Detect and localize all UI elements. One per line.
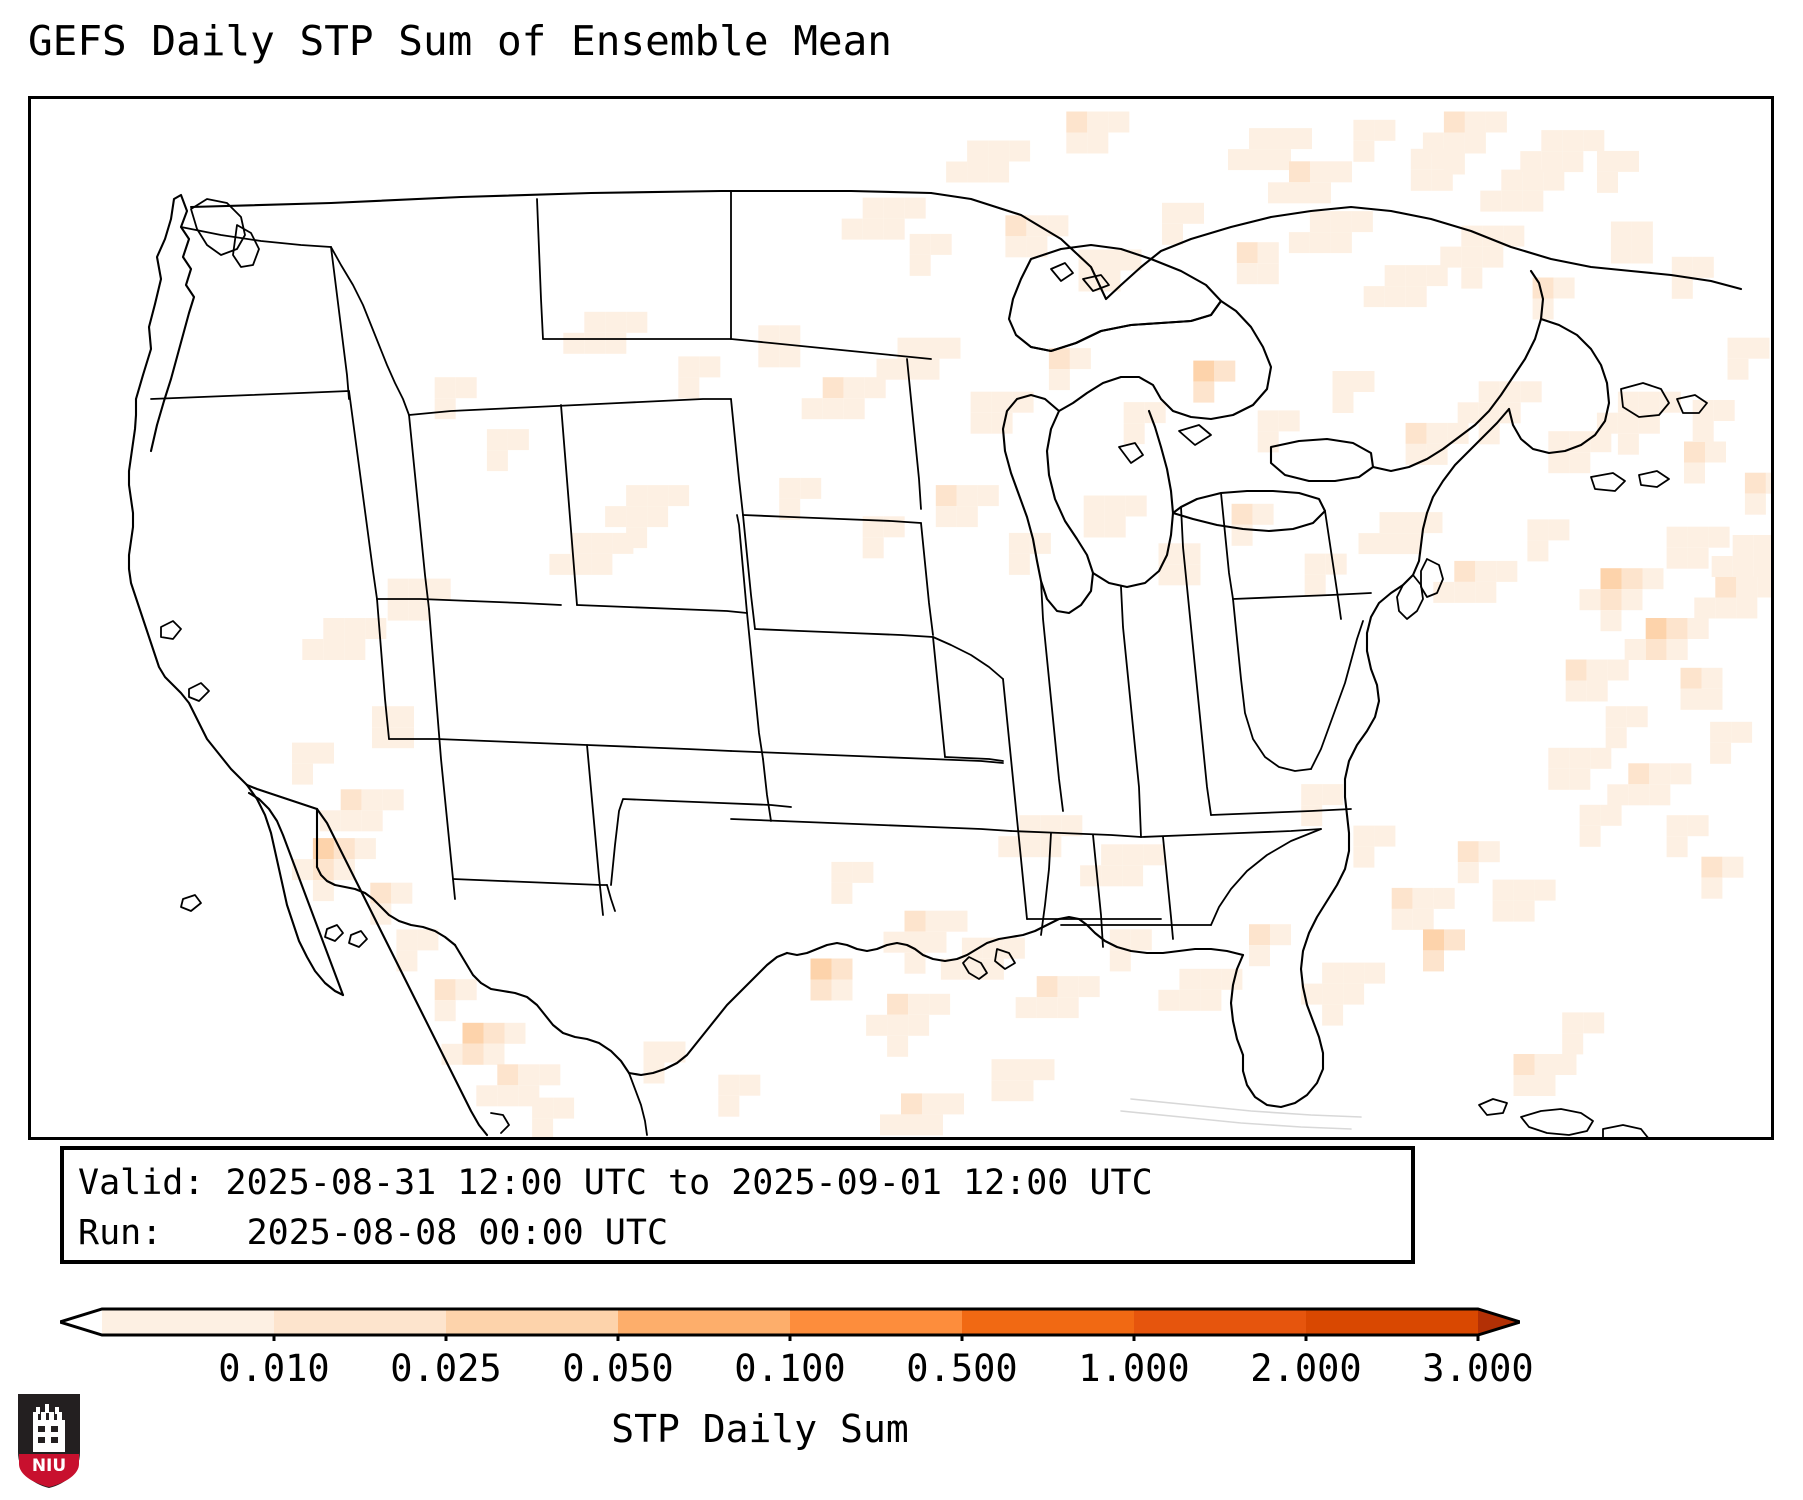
data-cell [1566,681,1587,702]
data-cell [739,1075,760,1096]
data-cell [1444,154,1465,175]
colorbar-segment [962,1309,1135,1335]
colorbar-tick-labels: 0.0100.0250.0500.1000.5001.0002.0003.000 [0,1347,1803,1397]
colorbar-segment [1134,1309,1307,1335]
data-cell [644,1042,665,1063]
data-cell [1180,564,1201,585]
data-cell [1037,997,1058,1018]
data-cell [1618,434,1639,455]
data-cell [1709,527,1730,548]
data-cell-layer [292,112,1771,1138]
data-cell [1200,990,1221,1011]
data-cell [1702,668,1723,689]
data-cell [1535,880,1556,901]
data-cell [1521,381,1542,402]
data-cell [1374,826,1395,847]
data-cell [1401,512,1422,533]
data-cell [393,727,414,748]
data-cell [901,1093,922,1114]
data-cell [1527,519,1548,540]
data-cell [866,1015,887,1036]
data-cell [505,1023,526,1044]
data-cell [1270,128,1291,149]
data-cell [1364,963,1385,984]
data-cell [302,639,323,660]
data-cell [811,980,832,1001]
data-cell [887,1036,908,1057]
data-cell [1131,929,1152,950]
data-cell [1406,444,1427,465]
data-cell [832,959,853,980]
data-cell [292,743,313,764]
data-cell [863,537,884,558]
data-cell [1124,423,1145,444]
data-cell [1611,243,1632,264]
data-cell [800,478,821,499]
data-cell [931,234,952,255]
data-cell [1672,278,1693,299]
data-cell [1601,610,1622,631]
data-cell [887,994,908,1015]
data-cell [1597,151,1618,172]
data-cell [1385,265,1406,286]
data-cell [1037,976,1058,997]
data-cell [1310,182,1331,203]
colorbar-tick-label: 2.000 [1250,1347,1361,1391]
colorbar[interactable] [60,1303,1520,1341]
data-cell [1444,112,1465,133]
data-cell [372,727,393,748]
data-cell [476,1085,497,1106]
map-panel [28,96,1774,1140]
data-cell [1628,784,1649,805]
data-cell [1479,381,1500,402]
data-cell [1005,215,1026,236]
data-cell [1454,561,1475,582]
run-time-line: Run: 2025-08-08 00:00 UTC [78,1208,1397,1258]
data-cell [1569,769,1590,790]
data-cell [442,1044,463,1065]
data-cell [1643,568,1664,589]
data-cell [1100,250,1121,271]
data-cell [1385,286,1406,307]
data-cell [1715,598,1736,619]
data-cell [1310,161,1331,182]
data-cell [1514,1054,1535,1075]
data-cell [1606,727,1627,748]
data-cell [1427,423,1448,444]
data-cell [456,377,477,398]
data-cell [1444,929,1465,950]
data-cell [1237,263,1258,284]
data-cell [532,1119,553,1137]
data-cell [668,485,689,506]
data-cell [1667,618,1688,639]
data-cell [1353,826,1374,847]
data-cell [1688,815,1709,836]
data-cell [435,377,456,398]
data-cell [1710,743,1731,764]
data-cell [1639,392,1660,413]
colorbar-axis-label: STP Daily Sum [0,1407,1520,1451]
colorbar-tick-label: 0.050 [562,1347,673,1391]
data-cell [926,932,947,953]
data-cell [435,979,456,1000]
data-cell [1289,232,1310,253]
data-cell [1305,554,1326,575]
data-cell [1179,969,1200,990]
data-cell [605,312,626,333]
data-cell [1333,371,1354,392]
data-cell [1193,361,1214,382]
data-cell [1268,182,1289,203]
data-cell [908,994,929,1015]
data-cell [1688,548,1709,569]
data-cell [1423,950,1444,971]
data-cell [1026,215,1047,236]
data-cell [1380,533,1401,554]
data-cell [1535,1054,1556,1075]
data-cell [1754,535,1771,556]
data-cell [1733,556,1754,577]
data-cell [1354,371,1375,392]
data-cell [1444,133,1465,154]
data-cell [1019,836,1040,857]
data-cell [1693,400,1714,421]
data-cell [842,219,863,240]
data-cell [1353,120,1374,141]
data-cell [1684,463,1705,484]
data-cell [1122,865,1143,886]
data-cell [1684,442,1705,463]
data-cell [779,478,800,499]
data-cell [988,141,1009,162]
colorbar-tick-label: 0.025 [390,1347,501,1391]
data-cell [831,862,852,883]
data-cell [1527,540,1548,561]
data-cell [1101,844,1122,865]
data-cell [1667,548,1688,569]
data-cell [1016,997,1037,1018]
data-cell [811,959,832,980]
data-cell [344,618,365,639]
data-cell [1728,359,1749,380]
data-cell [1009,533,1030,554]
data-cell [563,333,584,354]
data-cell [1013,1080,1034,1101]
data-cell [718,1096,739,1117]
data-cell [1249,924,1270,945]
data-cell [957,485,978,506]
colorbar-segment [274,1309,447,1335]
data-cell [484,1023,505,1044]
data-cell [946,162,967,183]
data-cell [1214,361,1235,382]
colorbar-over-extend [1478,1309,1520,1335]
data-cell [1556,1054,1577,1075]
data-cell [1562,1033,1583,1054]
data-cell [1237,242,1258,263]
data-cell [936,506,957,527]
data-cell [1458,402,1479,423]
data-cell [1543,170,1564,191]
data-cell [1569,452,1590,473]
data-cell [1009,141,1030,162]
data-cell [1606,706,1627,727]
data-cell [647,506,668,527]
data-cell [922,1093,943,1114]
data-cell [1105,496,1126,517]
data-cell [992,1080,1013,1101]
data-cell [1331,161,1352,182]
data-cell [362,789,383,810]
data-cell [647,485,668,506]
data-cell [1105,517,1126,538]
data-cell [1587,660,1608,681]
data-cell [1249,149,1270,170]
data-cell [584,333,605,354]
data-cell [463,1023,484,1044]
valid-time-line: Valid: 2025-08-31 12:00 UTC to 2025-09-0… [78,1158,1397,1208]
niu-logo: NIU [14,1390,84,1490]
data-cell [1322,963,1343,984]
data-cell [1520,151,1541,172]
data-cell [508,429,529,450]
data-cell [863,198,884,219]
data-cell [1013,1059,1034,1080]
data-cell [1458,862,1479,883]
data-cell [391,883,412,904]
data-cell [1461,247,1482,268]
data-cell [1580,826,1601,847]
data-cell [497,1064,518,1085]
data-cell [1110,950,1131,971]
data-cell [1632,222,1653,243]
data-cell [1413,909,1434,930]
data-cell [884,516,905,537]
data-cell [1353,141,1374,162]
data-cell [1601,568,1622,589]
data-cell [1501,191,1522,212]
data-cell [1087,133,1108,154]
logo-text: NIU [32,1456,66,1476]
data-cell [802,398,823,419]
data-cell [1625,639,1646,660]
data-cell [1622,589,1643,610]
data-cell [884,198,905,219]
data-cell [393,706,414,727]
data-cell [1597,413,1618,434]
data-cell [456,979,477,1000]
data-cell [626,312,647,333]
data-cell [1359,533,1380,554]
map-svg [31,99,1771,1137]
data-cell [1333,392,1354,413]
data-cell [1079,976,1100,997]
data-cell [1289,161,1310,182]
data-cell [998,836,1019,857]
data-cell [1070,348,1091,369]
data-cell [1566,660,1587,681]
data-cell [1322,784,1343,805]
colorbar-segment [618,1309,791,1335]
niu-logo-svg: NIU [14,1390,84,1490]
data-cell [1649,763,1670,784]
data-cell [518,1064,539,1085]
data-cell [865,377,886,398]
colorbar-segment [790,1309,963,1335]
data-cell [1705,442,1726,463]
data-cell [1712,556,1733,577]
data-cell [1688,527,1709,548]
data-cell [1232,504,1253,525]
data-cell [626,506,647,527]
data-cell [910,234,931,255]
data-cell [919,338,940,359]
data-cell [1554,278,1575,299]
data-cell [922,1114,943,1135]
data-cell [1108,112,1129,133]
data-cell [1326,554,1347,575]
data-cell [718,1075,739,1096]
data-cell [940,338,961,359]
data-cell [1627,706,1648,727]
data-cell [487,429,508,450]
data-cell [1583,1012,1604,1033]
data-cell [1193,382,1214,403]
data-cell [1601,805,1622,826]
data-cell [1058,976,1079,997]
data-cell [1406,286,1427,307]
data-cell [1601,589,1622,610]
data-cell [929,994,950,1015]
data-cell [1611,222,1632,243]
data-cell [484,1044,505,1065]
data-cell [372,706,393,727]
data-cell [1291,128,1312,149]
data-cell [1004,938,1025,959]
data-cell [1548,452,1569,473]
data-cell [936,485,957,506]
data-cell [1352,211,1373,232]
data-cell [1423,133,1444,154]
data-cell [1496,561,1517,582]
data-cell [1101,865,1122,886]
data-cell [992,1059,1013,1080]
data-cell [1079,271,1100,292]
colorbar-tick-label: 0.100 [734,1347,845,1391]
data-cell [1587,681,1608,702]
colorbar-segment [102,1309,275,1335]
data-cell [1562,130,1583,151]
data-cell [1649,784,1670,805]
data-cell [344,639,365,660]
data-cell [678,356,699,377]
data-cell [905,953,926,974]
data-cell [323,639,344,660]
data-cell [1066,133,1087,154]
data-cell [978,485,999,506]
data-cell [880,1114,901,1135]
data-cell [983,959,1004,980]
data-cell [435,1000,456,1021]
data-cell [1143,844,1164,865]
data-cell [1411,170,1432,191]
map-canvas [31,99,1771,1137]
data-cell [1249,945,1270,966]
colorbar-svg [60,1303,1520,1341]
data-cell [1440,247,1461,268]
data-cell [967,162,988,183]
data-cell [1079,250,1100,271]
data-cell [549,554,570,575]
page-title: GEFS Daily STP Sum of Ensemble Mean [28,18,892,65]
data-cell [887,1015,908,1036]
data-cell [1548,431,1569,452]
data-cell [1258,242,1279,263]
data-cell [1434,888,1455,909]
data-cell [388,600,409,621]
data-cell [1305,575,1326,596]
data-cell [1270,924,1291,945]
data-cell [1681,668,1702,689]
colorbar-segment [446,1309,619,1335]
data-cell [1486,112,1507,133]
data-cell [1162,203,1183,224]
data-cell [1618,151,1639,172]
data-cell [1413,888,1434,909]
data-cell [1608,660,1629,681]
data-cell [1562,151,1583,172]
data-cell [1475,561,1496,582]
data-cell [1646,639,1667,660]
data-cell [1066,112,1087,133]
data-cell [1401,533,1422,554]
data-cell [1392,909,1413,930]
data-cell [1392,888,1413,909]
data-cell [1465,112,1486,133]
data-cell [1693,421,1714,442]
data-cell [1427,265,1448,286]
data-cell [626,527,647,548]
data-cell [908,1015,929,1036]
data-cell [1454,582,1475,603]
data-cell [605,333,626,354]
data-cell [1541,151,1562,172]
data-cell [884,932,905,953]
data-cell [1522,191,1543,212]
data-cell [779,346,800,367]
data-cell [1733,535,1754,556]
data-cell [1701,878,1722,899]
data-cell [1258,431,1279,452]
data-cell [1310,211,1331,232]
data-cell [1179,990,1200,1011]
data-cell [1270,149,1291,170]
data-cell [1535,1075,1556,1096]
data-cell [463,1044,484,1065]
data-cell [362,810,383,831]
data-cell [1514,880,1535,901]
data-cell [971,413,992,434]
data-cell [1728,338,1749,359]
data-cell [1493,901,1514,922]
data-cell [1694,598,1715,619]
data-cell [626,485,647,506]
data-cell [1126,496,1147,517]
info-box: Valid: 2025-08-31 12:00 UTC to 2025-09-0… [60,1146,1415,1264]
data-cell [758,346,779,367]
